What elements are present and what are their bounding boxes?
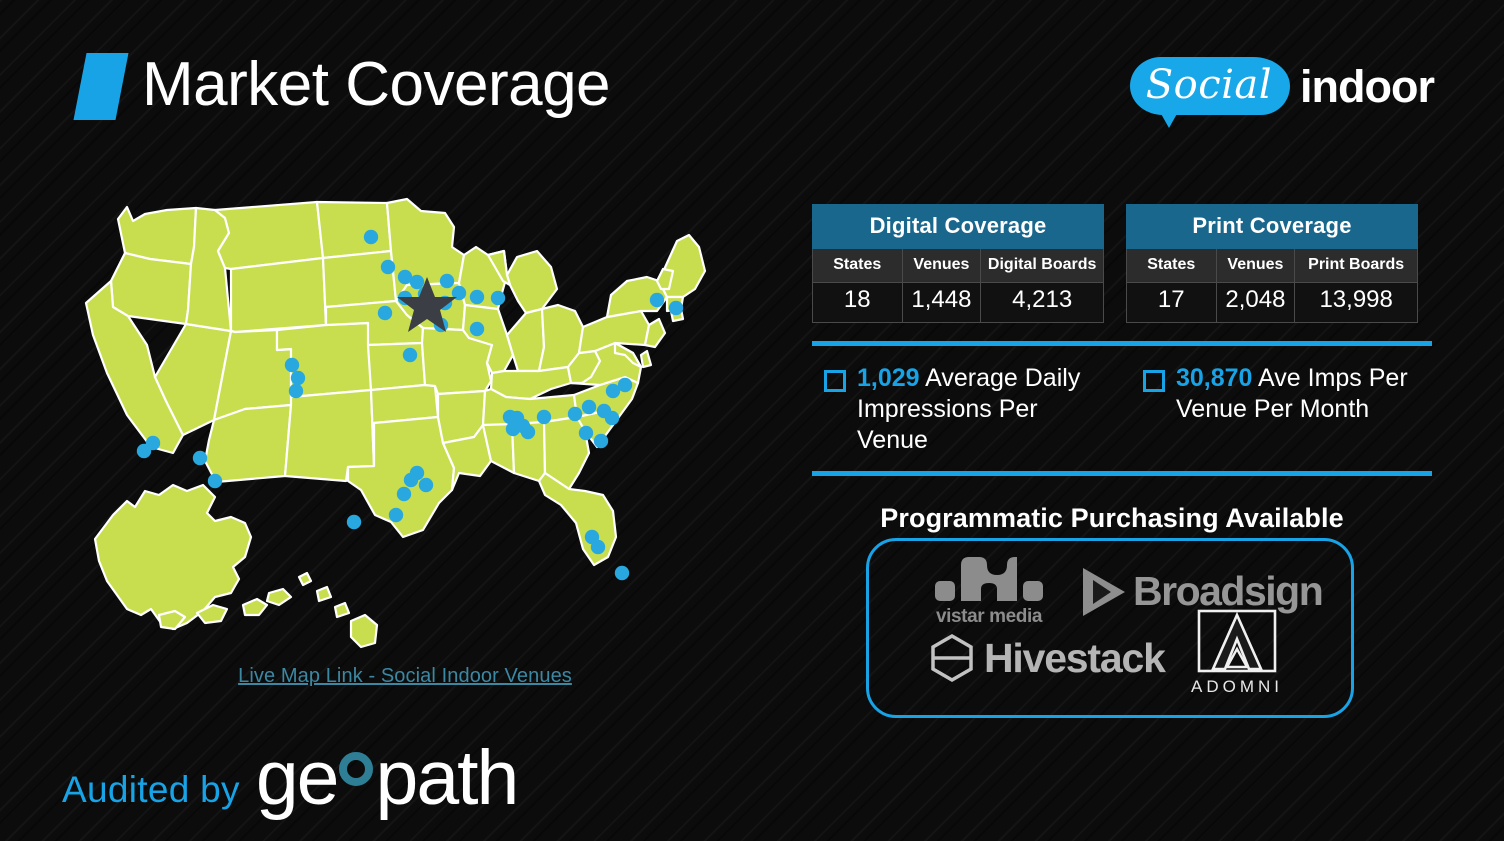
value-states: 17 bbox=[1126, 283, 1217, 323]
column-header-venues: Venues bbox=[1217, 249, 1296, 283]
vistar-mark-icon bbox=[935, 555, 1043, 603]
programmatic-purchasing-title: Programmatic Purchasing Available bbox=[812, 503, 1412, 534]
digital-coverage-header-row: States Venues Digital Boards bbox=[812, 249, 1104, 283]
digital-coverage-title: Digital Coverage bbox=[812, 204, 1104, 249]
hivestack-hexagon-icon bbox=[929, 633, 975, 683]
geopath-ring-icon bbox=[339, 752, 373, 786]
geopath-logo-part2: path bbox=[376, 740, 518, 817]
slide-canvas: Market Coverage Social indoor bbox=[0, 0, 1504, 841]
brand-script-word: Social bbox=[1146, 62, 1272, 108]
value-digital-boards: 4,213 bbox=[981, 283, 1104, 323]
column-header-states: States bbox=[1126, 249, 1217, 283]
social-indoor-logo: Social indoor bbox=[1130, 46, 1434, 126]
print-coverage-value-row: 17 2,048 13,998 bbox=[1126, 283, 1418, 323]
title-accent-bar bbox=[73, 53, 128, 120]
vistar-media-logo: vistar media bbox=[929, 555, 1049, 628]
print-coverage-title: Print Coverage bbox=[1126, 204, 1418, 249]
speech-bubble-icon: Social bbox=[1130, 57, 1290, 115]
column-header-print-boards: Print Boards bbox=[1295, 249, 1418, 283]
us-map-svg bbox=[55, 185, 755, 655]
audited-by-label: Audited by bbox=[62, 767, 240, 813]
column-header-digital-boards: Digital Boards bbox=[981, 249, 1104, 283]
broadsign-wordmark: Broadsign bbox=[1133, 568, 1322, 615]
print-coverage-header-row: States Venues Print Boards bbox=[1126, 249, 1418, 283]
vistar-media-wordmark: vistar media bbox=[936, 606, 1042, 628]
hivestack-wordmark: Hivestack bbox=[984, 635, 1165, 682]
stat-average-daily-impressions: 1,029 Average Daily Impressions Per Venu… bbox=[812, 363, 1113, 456]
geopath-audited-badge: Audited by ge path bbox=[62, 740, 517, 813]
adomni-logo: ADOMNI bbox=[1189, 609, 1285, 697]
stat-number: 30,870 bbox=[1176, 364, 1252, 392]
bullet-square-icon bbox=[824, 370, 846, 392]
stat-number: 1,029 bbox=[857, 364, 920, 392]
adomni-wordmark: ADOMNI bbox=[1191, 677, 1283, 697]
value-print-boards: 13,998 bbox=[1295, 283, 1418, 323]
adomni-mark-icon bbox=[1197, 609, 1277, 673]
partner-logo-row-bottom: Hivestack bbox=[929, 633, 1165, 683]
impressions-stats-band: 1,029 Average Daily Impressions Per Venu… bbox=[812, 341, 1432, 476]
coverage-map[interactable] bbox=[55, 185, 755, 655]
programmatic-partners-box: vistar media Broadsign Hivestack bbox=[866, 538, 1354, 718]
digital-coverage-value-row: 18 1,448 4,213 bbox=[812, 283, 1104, 323]
column-header-states: States bbox=[812, 249, 903, 283]
value-venues: 2,048 bbox=[1217, 283, 1296, 323]
geopath-logo: ge path bbox=[256, 740, 518, 817]
print-coverage-table: Print Coverage States Venues Print Board… bbox=[1126, 204, 1418, 323]
hivestack-logo: Hivestack bbox=[929, 633, 1165, 683]
column-header-venues: Venues bbox=[903, 249, 982, 283]
broadsign-play-icon bbox=[1079, 566, 1127, 618]
stat-monthly-impressions: 30,870 Ave Imps Per Venue Per Month bbox=[1131, 363, 1432, 456]
digital-coverage-table: Digital Coverage States Venues Digital B… bbox=[812, 204, 1104, 323]
bullet-square-icon bbox=[1143, 370, 1165, 392]
stat-text: 30,870 Ave Imps Per Venue Per Month bbox=[1176, 363, 1432, 425]
value-states: 18 bbox=[812, 283, 903, 323]
value-venues: 1,448 bbox=[903, 283, 982, 323]
page-title: Market Coverage bbox=[142, 44, 610, 126]
live-map-link[interactable]: Live Map Link - Social Indoor Venues bbox=[55, 665, 755, 688]
stats-bottom-rule bbox=[812, 471, 1432, 476]
brand-bold-word: indoor bbox=[1300, 64, 1434, 109]
stat-text: 1,029 Average Daily Impressions Per Venu… bbox=[857, 363, 1113, 456]
geopath-logo-part1: ge bbox=[256, 740, 338, 817]
